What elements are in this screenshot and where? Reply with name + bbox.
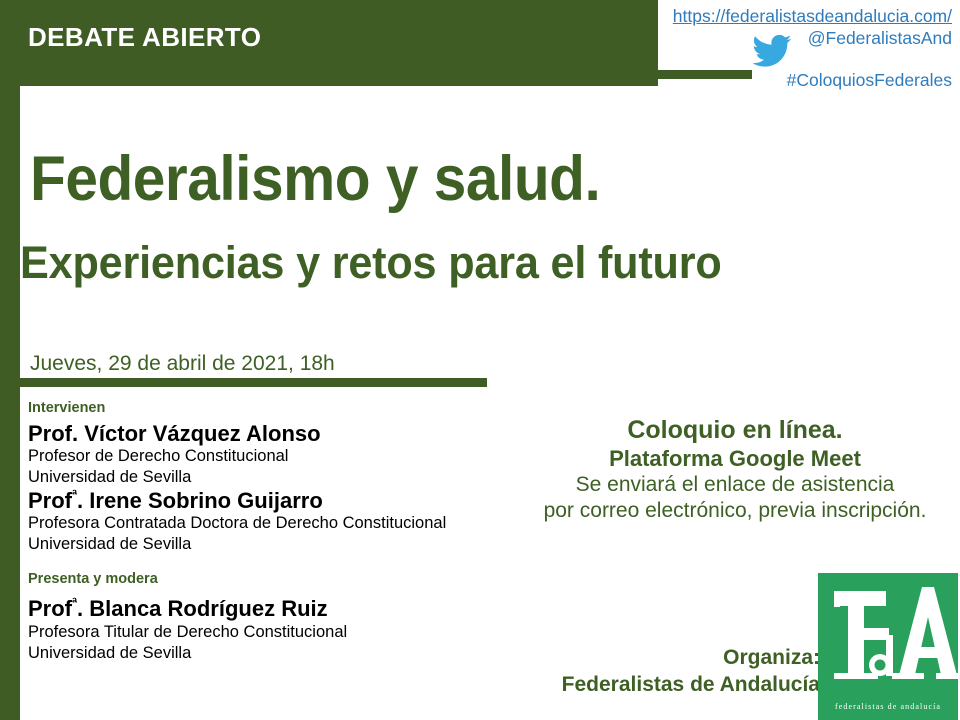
- moderator-label: Presenta y modera: [28, 569, 508, 591]
- online-note-line1: Se enviará el enlace de asistencia: [520, 472, 950, 498]
- moderator-name: Profª. Blanca Rodríguez Ruiz: [28, 597, 508, 622]
- speaker-name: Profª. Irene Sobrino Guijarro: [28, 489, 508, 514]
- fda-logo: federalistas de andalucía: [818, 573, 958, 720]
- hashtag-text: #ColoquiosFederales: [787, 70, 952, 92]
- poster-title: Federalismo y salud.: [30, 148, 600, 211]
- online-info-block: Coloquio en línea. Plataforma Google Mee…: [520, 416, 950, 524]
- fda-logo-mark: [818, 573, 958, 697]
- fda-logo-caption: federalistas de andalucía: [818, 702, 958, 711]
- speaker-role: Profesora Contratada Doctora de Derecho …: [28, 513, 508, 534]
- website-link[interactable]: https://federalistasdeandalucia.com/: [673, 6, 952, 28]
- moderator-name-prefix: Prof: [28, 596, 72, 621]
- moderator-role: Profesora Titular de Derecho Constitucio…: [28, 622, 508, 643]
- date-divider: [20, 378, 487, 387]
- header-kicker: DEBATE ABIERTO: [28, 24, 261, 50]
- left-accent-strip: [0, 0, 20, 720]
- poster-subtitle: Experiencias y retos para el futuro: [20, 240, 722, 285]
- online-note-line2: por correo electrónico, previa inscripci…: [520, 498, 950, 524]
- moderator-name-rest: . Blanca Rodríguez Ruiz: [77, 596, 328, 621]
- speakers-section: Intervienen Prof. Víctor Vázquez Alonso …: [28, 398, 508, 664]
- speaker-name: Prof. Víctor Vázquez Alonso: [28, 422, 508, 447]
- speaker-affiliation: Universidad de Sevilla: [28, 467, 508, 488]
- social-block: https://federalistasdeandalucia.com/ @Fe…: [640, 0, 960, 92]
- speaker-affiliation: Universidad de Sevilla: [28, 534, 508, 555]
- organizer-label: Organiza:: [500, 645, 820, 672]
- event-date: Jueves, 29 de abril de 2021, 18h: [30, 352, 335, 376]
- speaker-name-prefix: Prof: [28, 488, 72, 513]
- organizer-name: Federalistas de Andalucía: [500, 672, 820, 699]
- header-banner: DEBATE ABIERTO: [0, 0, 658, 86]
- organizer-block: Organiza: Federalistas de Andalucía: [500, 645, 820, 699]
- speaker-name-rest: . Irene Sobrino Guijarro: [77, 488, 323, 513]
- speaker-name-rest: Víctor Vázquez Alonso: [78, 421, 320, 446]
- speaker-role: Profesor de Derecho Constitucional: [28, 446, 508, 467]
- speaker-name-prefix: Prof.: [28, 421, 78, 446]
- online-platform: Plataforma Google Meet: [520, 446, 950, 472]
- twitter-bird-icon: [752, 34, 792, 68]
- speakers-label: Intervienen: [28, 398, 508, 420]
- twitter-handle: @FederalistasAnd: [808, 28, 952, 50]
- online-heading: Coloquio en línea.: [520, 416, 950, 446]
- moderator-affiliation: Universidad de Sevilla: [28, 643, 508, 664]
- poster-canvas: DEBATE ABIERTO https://federalistasdeand…: [0, 0, 960, 720]
